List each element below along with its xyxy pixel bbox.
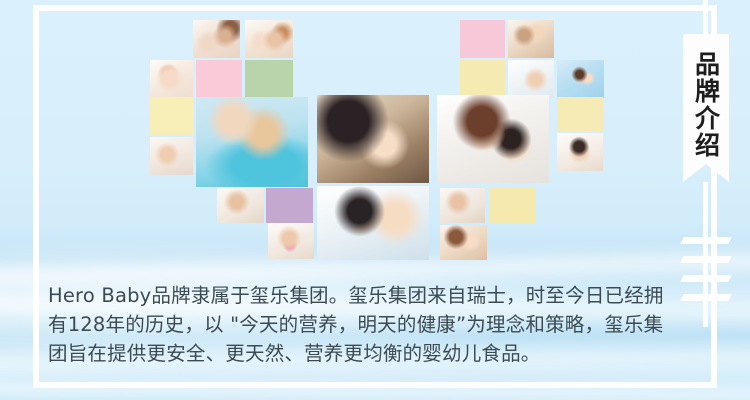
swatch-yellow-bottom <box>489 188 536 223</box>
brand-intro-banner: 品牌介绍 Hero Baby品牌隶属于玺乐集团。玺乐集团来自瑞士，时至今日已经拥… <box>0 0 750 400</box>
ribbon-dash-2 <box>680 256 732 263</box>
photo-baby-crawl-c <box>440 188 485 223</box>
photo-baby-crawl-a <box>217 188 264 223</box>
photo-baby-hands <box>150 60 193 98</box>
photo-darkhair-mom <box>317 95 429 183</box>
brand-description-text: Hero Baby品牌隶属于玺乐集团。玺乐集团来自瑞士，时至今日已经拥有128年… <box>48 281 668 368</box>
photo-baby-bath <box>557 133 603 171</box>
white-frame-top-right <box>707 5 717 11</box>
ribbon-dash-1 <box>680 237 732 244</box>
ribbon-dash-4 <box>680 294 732 301</box>
brand-intro-tab[interactable]: 品牌介绍 <box>683 34 729 182</box>
swatch-yellow-right-top <box>460 60 505 98</box>
ribbon-stem-top <box>703 0 708 34</box>
brand-intro-tab-label: 品牌介绍 <box>694 51 719 159</box>
swatch-purple <box>266 188 313 223</box>
ribbon-stem-bottom <box>703 182 708 327</box>
photo-mom-baby-blue <box>557 60 604 98</box>
photo-babies-sleeping <box>245 20 293 58</box>
photo-mom-toddler-beach <box>196 97 308 187</box>
photo-baby-white-room <box>508 60 554 98</box>
photo-mom-kiss-baby <box>440 225 487 260</box>
swatch-pink-top <box>460 20 505 58</box>
swatch-green <box>245 60 293 98</box>
swatch-pink-mid <box>196 60 242 98</box>
photo-babies-pair <box>193 20 240 58</box>
white-frame-top-left <box>33 5 123 11</box>
photo-baby-stand <box>150 137 193 175</box>
ribbon-dash-3 <box>680 275 732 282</box>
photo-baby-crawl-b <box>268 223 314 259</box>
swatch-yellow-right-mid <box>557 97 603 131</box>
swatch-yellow-left <box>150 97 193 135</box>
photo-toddler-hug <box>508 20 554 58</box>
white-frame-top-middle <box>123 5 707 11</box>
photo-mom-boy <box>437 95 549 183</box>
photo-nurse-baby <box>317 186 429 260</box>
